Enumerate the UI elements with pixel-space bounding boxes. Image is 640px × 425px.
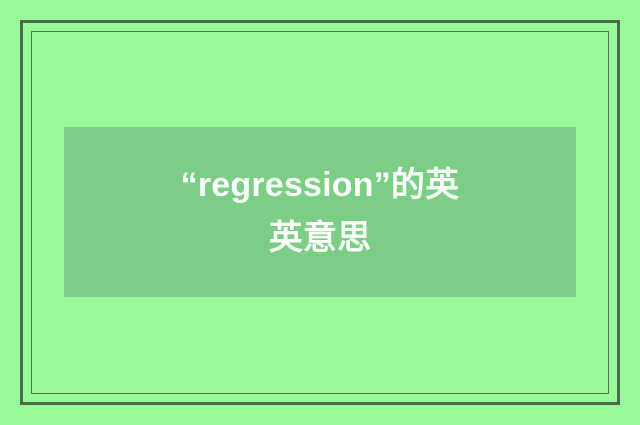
- headline-text: “regression”的英英意思: [175, 159, 465, 264]
- headline-card: “regression”的英英意思: [64, 127, 576, 297]
- poster-canvas: “regression”的英英意思: [0, 0, 640, 425]
